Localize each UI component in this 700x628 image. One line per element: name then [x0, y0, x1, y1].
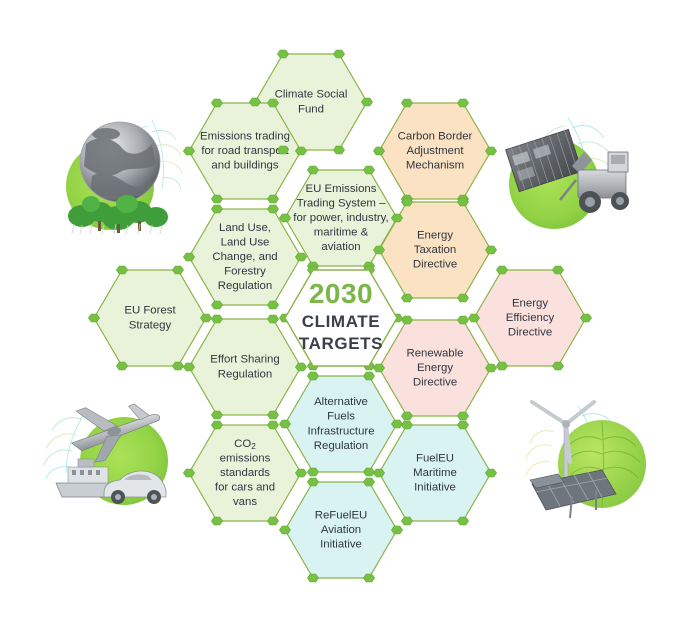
hexagon-vertex-dot — [457, 99, 468, 107]
hexagon-vertex-dot — [279, 420, 290, 428]
hexagon-vertex-dot — [457, 294, 468, 302]
hexagon-vertex-dot — [457, 198, 468, 206]
hex-refueleu-aviation-initiative-shape[interactable] — [285, 482, 397, 578]
hexagon-vertex-dot — [183, 147, 194, 155]
hexagon-vertex-dot — [391, 526, 402, 534]
hexagon-vertex-dot — [307, 478, 318, 486]
hexagon-vertex-dot — [391, 214, 402, 222]
tree-cluster-icon — [68, 195, 168, 233]
hexagon-vertex-dot — [373, 147, 384, 155]
hexagon-vertex-dot — [211, 195, 222, 203]
hexagon-vertex-dot — [580, 314, 591, 322]
hex-alternative-fuels-infrastructure-regulation-shape[interactable] — [285, 376, 397, 472]
hexagon-vertex-dot — [116, 362, 127, 370]
hexagon-vertex-dot — [361, 98, 372, 106]
hexagon-vertex-dot — [363, 166, 374, 174]
hex-refueleu-aviation-initiative[interactable]: ReFuelEUAviationInitiative — [285, 482, 397, 578]
hexagon-vertex-dot — [267, 411, 278, 419]
hexagon-vertex-dot — [373, 364, 384, 372]
hexagon-vertex-dot — [401, 198, 412, 206]
hexagon-vertex-dot — [333, 146, 344, 154]
hex-eu-forest-strategy[interactable]: EU ForestStrategy — [94, 270, 206, 366]
hexagon-vertex-dot — [307, 574, 318, 582]
hex-co2-emissions-standards-cars-vans-shape[interactable] — [189, 425, 301, 521]
hexagon-vertex-dot — [363, 372, 374, 380]
hexagon-vertex-dot — [457, 517, 468, 525]
hexagon-vertex-dot — [401, 517, 412, 525]
hexagon-vertex-dot — [279, 526, 290, 534]
illustration-earth-and-forest — [66, 120, 182, 234]
hex-effort-sharing-regulation-shape[interactable] — [189, 319, 301, 415]
hexagon-vertex-dot — [211, 517, 222, 525]
hexagon-vertex-dot — [295, 469, 306, 477]
solar-panel-icon — [530, 470, 616, 518]
hexagon-vertex-dot — [401, 294, 412, 302]
hexagon-vertex-dot — [307, 468, 318, 476]
hexagon-vertex-dot — [333, 50, 344, 58]
hexagon-vertex-dot — [373, 469, 384, 477]
hexagon-vertex-dot — [267, 517, 278, 525]
earth-globe-icon — [80, 122, 160, 202]
hexagon-vertex-dot — [172, 266, 183, 274]
hexagon-vertex-dot — [485, 246, 496, 254]
hex-energy-efficiency-directive-shape[interactable] — [474, 270, 586, 366]
center-title-line1: CLIMATE — [302, 312, 380, 331]
hexagon-vertex-dot — [211, 315, 222, 323]
hexagon-vertex-dot — [277, 50, 288, 58]
hex-carbon-border-adjustment-mechanism[interactable]: Carbon BorderAdjustmentMechanism — [379, 103, 491, 199]
hexagon-vertex-dot — [485, 147, 496, 155]
hex-co2-emissions-standards-cars-vans[interactable]: CO2emissionsstandardsfor cars andvans — [189, 425, 301, 521]
hexagon-vertex-dot — [485, 469, 496, 477]
hexagon-vertex-dot — [211, 99, 222, 107]
hexagon-vertex-dot — [267, 195, 278, 203]
hexagon-vertex-dot — [391, 420, 402, 428]
hexagon-vertex-dot — [363, 574, 374, 582]
hex-fueleu-maritime-initiative[interactable]: FuelEUMaritimeInitiative — [379, 425, 491, 521]
hexagon-vertex-dot — [401, 412, 412, 420]
hexagon-vertex-dot — [183, 469, 194, 477]
hexagon-vertex-dot — [496, 362, 507, 370]
hexagon-vertex-dot — [457, 412, 468, 420]
hexagon-vertex-dot — [457, 421, 468, 429]
hexagon-vertex-dot — [116, 266, 127, 274]
illustration-transport-plane-car-ship — [44, 391, 168, 505]
hexagon-vertex-dot — [279, 214, 290, 222]
climate-targets-infographic: Climate SocialFundEmissions tradingfor r… — [0, 0, 700, 628]
center-title-line2: TARGETS — [299, 334, 383, 353]
hexagon-vertex-dot — [307, 372, 318, 380]
hexagon-vertex-dot — [552, 362, 563, 370]
hex-energy-efficiency-directive[interactable]: EnergyEfficiencyDirective — [474, 270, 586, 366]
hexagon-vertex-dot — [211, 411, 222, 419]
hex-2030-climate-targets-center: 2030 CLIMATE TARGETS — [285, 270, 397, 366]
center-year-label: 2030 — [309, 278, 373, 309]
hex-carbon-border-adjustment-mechanism-shape[interactable] — [379, 103, 491, 199]
illustration-wind-turbine-solar-panels — [526, 402, 646, 518]
hex-land-use-land-use-change-forestry-regulation[interactable]: Land Use,Land UseChange, andForestryRegu… — [189, 209, 301, 305]
hexagon-vertex-dot — [295, 147, 306, 155]
hexagon-vertex-dot — [277, 146, 288, 154]
hex-effort-sharing-regulation[interactable]: Effort SharingRegulation — [189, 319, 301, 415]
hex-eu-forest-strategy-shape[interactable] — [94, 270, 206, 366]
hexagon-vertex-dot — [267, 301, 278, 309]
hexagon-vertex-dot — [363, 468, 374, 476]
hexagon-vertex-dot — [457, 316, 468, 324]
hexagon-vertex-dot — [183, 363, 194, 371]
hexagon-vertex-dot — [401, 316, 412, 324]
hexagon-vertex-dot — [88, 314, 99, 322]
hex-alternative-fuels-infrastructure-regulation[interactable]: AlternativeFuelsInfrastructureRegulation — [285, 376, 397, 472]
hexagon-vertex-dot — [485, 364, 496, 372]
hexagon-vertex-dot — [496, 266, 507, 274]
hexagon-vertex-dot — [267, 315, 278, 323]
hexagon-vertex-dot — [267, 205, 278, 213]
hexagon-vertex-dot — [468, 314, 479, 322]
hexagon-vertex-dot — [373, 246, 384, 254]
hexagon-vertex-dot — [249, 98, 260, 106]
hexagon-vertex-dot — [401, 99, 412, 107]
hexagon-vertex-dot — [267, 421, 278, 429]
hex-fueleu-maritime-initiative-shape[interactable] — [379, 425, 491, 521]
hexagon-diagram-canvas: Climate SocialFundEmissions tradingfor r… — [0, 0, 700, 628]
hexagon-vertex-dot — [183, 253, 194, 261]
hexagon-vertex-dot — [211, 205, 222, 213]
hexagon-vertex-dot — [295, 363, 306, 371]
hexagon-vertex-dot — [267, 99, 278, 107]
illustration-industry-cargo-handler — [506, 118, 629, 229]
hex-land-use-land-use-change-forestry-regulation-shape[interactable] — [189, 209, 301, 305]
hexagon-vertex-dot — [401, 421, 412, 429]
hexagon-vertex-dot — [211, 421, 222, 429]
hexagon-vertex-dot — [211, 301, 222, 309]
hexagon-vertex-dot — [200, 314, 211, 322]
hex-renewable-energy-directive[interactable]: RenewableEnergyDirective — [379, 320, 491, 416]
hexagon-vertex-dot — [172, 362, 183, 370]
hexagon-vertex-dot — [307, 166, 318, 174]
hexagon-vertex-dot — [552, 266, 563, 274]
hexagon-vertex-dot — [363, 478, 374, 486]
hexagon-vertex-dot — [295, 253, 306, 261]
hex-renewable-energy-directive-shape[interactable] — [379, 320, 491, 416]
